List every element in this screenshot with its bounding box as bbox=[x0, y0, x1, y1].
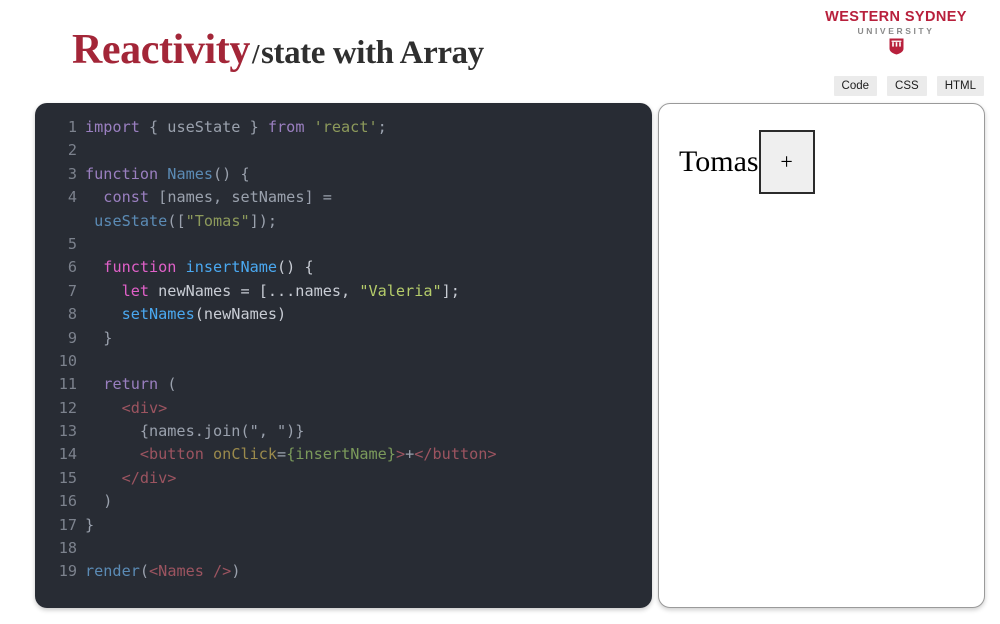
code-token: () { bbox=[277, 258, 314, 276]
code-token: 'react' bbox=[314, 118, 378, 136]
code-token: ([ bbox=[167, 212, 185, 230]
logo-line-university: UNIVERSITY bbox=[808, 27, 984, 36]
code-line-number: 12 bbox=[35, 397, 85, 420]
code-token: <Names /> bbox=[149, 562, 231, 580]
code-line: 8 setNames(newNames) bbox=[35, 303, 652, 326]
code-token: () { bbox=[213, 165, 250, 183]
western-sydney-university-logo: WESTERN SYDNEY UNIVERSITY bbox=[808, 10, 984, 59]
code-line: 9 } bbox=[35, 327, 652, 350]
code-line-number: 8 bbox=[35, 303, 85, 326]
code-token bbox=[85, 258, 103, 276]
code-token: } bbox=[85, 516, 94, 534]
code-line-number: 10 bbox=[35, 350, 85, 373]
code-token: useState bbox=[94, 212, 167, 230]
code-token: "Valeria" bbox=[359, 282, 441, 300]
code-token: "Tomas" bbox=[186, 212, 250, 230]
code-token: function bbox=[85, 165, 167, 183]
code-token: from bbox=[268, 118, 314, 136]
code-line: 13 {names.join(", ")} bbox=[35, 420, 652, 443]
shield-crest-icon bbox=[889, 38, 904, 55]
code-line-number: 4 bbox=[35, 186, 85, 209]
preview-panel: Tomas + bbox=[658, 103, 985, 608]
code-token: ( bbox=[158, 375, 176, 393]
code-token: ) bbox=[85, 492, 112, 510]
code-token: ; bbox=[378, 118, 387, 136]
code-line-number: 16 bbox=[35, 490, 85, 513]
code-token: return bbox=[103, 375, 158, 393]
code-token bbox=[85, 282, 122, 300]
code-line: 7 let newNames = [...names, "Valeria"]; bbox=[35, 280, 652, 303]
code-line: useState(["Tomas"]); bbox=[35, 210, 652, 233]
code-token: [names, setNames] = bbox=[158, 188, 332, 206]
code-token: const bbox=[103, 188, 158, 206]
code-token: render bbox=[85, 562, 140, 580]
code-token bbox=[85, 469, 122, 487]
page-header: Reactivity/state with Array WESTERN SYDN… bbox=[0, 0, 1000, 100]
code-token: let bbox=[122, 282, 159, 300]
code-line: 2 bbox=[35, 139, 652, 162]
code-token: {insertName} bbox=[286, 445, 396, 463]
preview-content: Tomas + bbox=[679, 130, 815, 194]
code-token: </button> bbox=[414, 445, 496, 463]
code-line: 4 const [names, setNames] = bbox=[35, 186, 652, 209]
code-line: 10 bbox=[35, 350, 652, 373]
code-line-number: 11 bbox=[35, 373, 85, 396]
code-line-number: 2 bbox=[35, 139, 85, 162]
page-title-sub: state with Array bbox=[261, 35, 484, 71]
code-line-number: 17 bbox=[35, 514, 85, 537]
code-token: function bbox=[103, 258, 185, 276]
tab-code[interactable]: Code bbox=[834, 76, 878, 96]
code-line-number: 6 bbox=[35, 256, 85, 279]
code-line-number: 15 bbox=[35, 467, 85, 490]
code-token bbox=[85, 212, 94, 230]
code-token bbox=[85, 375, 103, 393]
code-token: ]); bbox=[250, 212, 277, 230]
code-line-number: 3 bbox=[35, 163, 85, 186]
logo-line-western-sydney: WESTERN SYDNEY bbox=[808, 10, 984, 25]
code-token: > bbox=[396, 445, 405, 463]
code-token: + bbox=[405, 445, 414, 463]
page-title: Reactivity/state with Array bbox=[72, 26, 484, 74]
code-token: newNames = [...names, bbox=[158, 282, 359, 300]
code-token: ]; bbox=[442, 282, 460, 300]
code-token: <button bbox=[140, 445, 204, 463]
code-line-number: 5 bbox=[35, 233, 85, 256]
code-token bbox=[85, 305, 122, 323]
code-token: setNames bbox=[122, 305, 195, 323]
code-token: import bbox=[85, 118, 149, 136]
page-title-separator: / bbox=[250, 39, 261, 69]
code-line: 12 <div> bbox=[35, 397, 652, 420]
code-token bbox=[85, 445, 140, 463]
code-token bbox=[85, 188, 103, 206]
code-line: 1import { useState } from 'react'; bbox=[35, 116, 652, 139]
code-line-number: 1 bbox=[35, 116, 85, 139]
code-line: 6 function insertName() { bbox=[35, 256, 652, 279]
code-line-number: 19 bbox=[35, 560, 85, 583]
code-token: insertName bbox=[186, 258, 277, 276]
code-line: 19render(<Names />) bbox=[35, 560, 652, 583]
code-token bbox=[85, 399, 122, 417]
code-token: { useState } bbox=[149, 118, 268, 136]
tab-html[interactable]: HTML bbox=[937, 76, 984, 96]
code-token: <div> bbox=[122, 399, 168, 417]
code-line: 5 bbox=[35, 233, 652, 256]
code-line: 16 ) bbox=[35, 490, 652, 513]
code-token: = bbox=[277, 445, 286, 463]
code-token: onClick bbox=[204, 445, 277, 463]
add-name-button[interactable]: + bbox=[759, 130, 815, 194]
code-token: </div> bbox=[122, 469, 177, 487]
code-line-number: 18 bbox=[35, 537, 85, 560]
code-line: 11 return ( bbox=[35, 373, 652, 396]
code-line-number: 14 bbox=[35, 443, 85, 466]
code-line: 3function Names() { bbox=[35, 163, 652, 186]
code-editor-lines[interactable]: 1import { useState } from 'react';23func… bbox=[35, 116, 652, 584]
code-line-number: 9 bbox=[35, 327, 85, 350]
code-line-number: 13 bbox=[35, 420, 85, 443]
code-line: 14 <button onClick={insertName}>+</butto… bbox=[35, 443, 652, 466]
code-token: ( bbox=[140, 562, 149, 580]
code-token: } bbox=[85, 329, 112, 347]
code-line-number: 7 bbox=[35, 280, 85, 303]
code-line: 15 </div> bbox=[35, 467, 652, 490]
code-line: 18 bbox=[35, 537, 652, 560]
code-token: Names bbox=[167, 165, 213, 183]
code-line: 17} bbox=[35, 514, 652, 537]
code-token: (newNames) bbox=[195, 305, 286, 323]
code-editor-panel[interactable]: 1import { useState } from 'react';23func… bbox=[35, 103, 652, 608]
panel-tabs: Code CSS HTML bbox=[834, 76, 984, 96]
page-title-main: Reactivity bbox=[72, 27, 250, 73]
code-token: {names.join(", ")} bbox=[85, 422, 304, 440]
tab-css[interactable]: CSS bbox=[887, 76, 927, 96]
code-token: ) bbox=[231, 562, 240, 580]
preview-names-text: Tomas bbox=[679, 147, 759, 177]
